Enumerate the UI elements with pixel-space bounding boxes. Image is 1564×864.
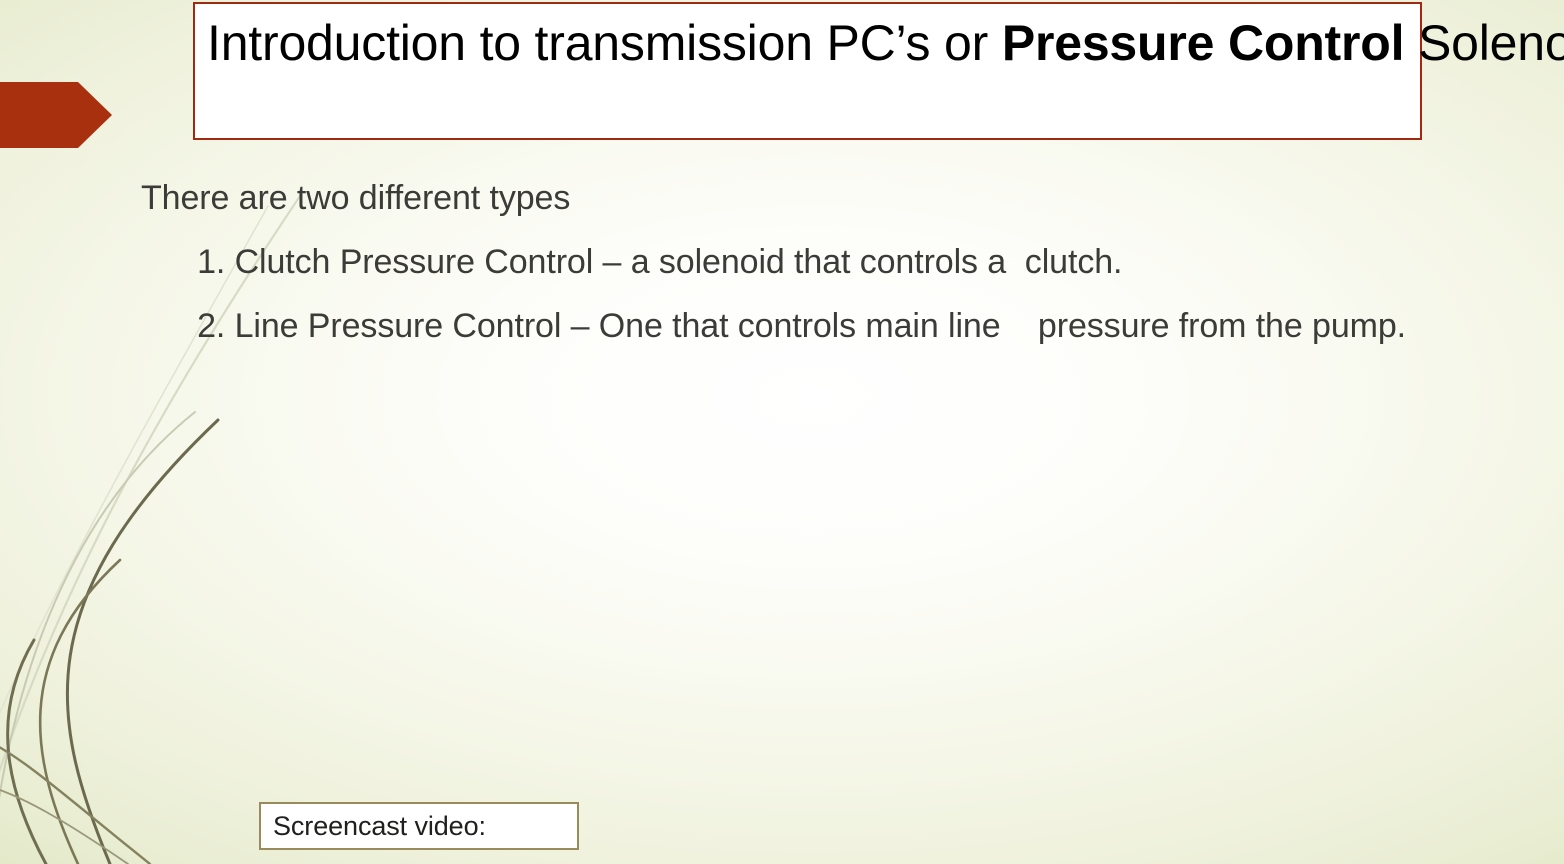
body-line-item-1: 1. Clutch Pressure Control – a solenoid … [141,230,1541,294]
slide-canvas: Introduction to transmission PC’s or Pre… [0,0,1564,864]
slide-title-box: Introduction to transmission PC’s or Pre… [193,2,1422,140]
screencast-video-box[interactable]: Screencast video: [259,802,579,850]
body-line-item-2: 2. Line Pressure Control – One that cont… [141,294,1541,358]
title-segment-1: Introduction to transmission PC’s or [207,15,1002,71]
title-segment-2-bold: Pressure Control [1002,15,1404,71]
red-arrow-badge [0,82,112,148]
screencast-video-label: Screencast video: [261,811,486,841]
slide-title: Introduction to transmission PC’s or Pre… [207,10,1412,76]
title-segment-3: Solenoids. [1404,15,1564,71]
body-line-intro: There are two different types [141,166,1541,230]
slide-body: There are two different types 1. Clutch … [141,166,1541,358]
